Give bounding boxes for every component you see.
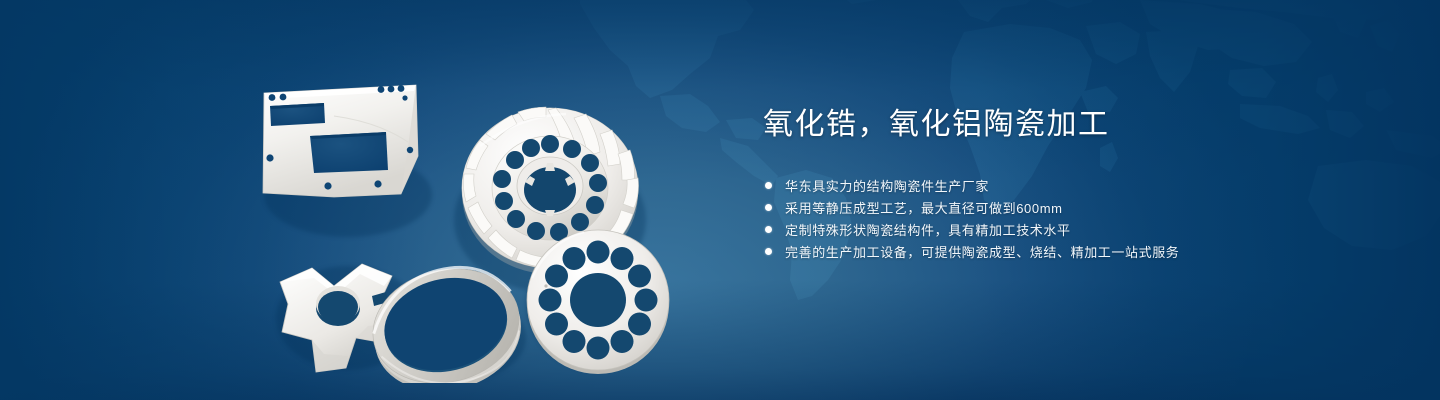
list-item: 定制特殊形状陶瓷结构件，具有精加工技术水平: [765, 218, 1383, 240]
banner-headline: 氧化锆，氧化铝陶瓷加工: [763, 106, 1383, 144]
bullet-dot-icon: [765, 248, 772, 255]
list-item: 采用等静压成型工艺，最大直径可做到600mm: [765, 196, 1383, 218]
bullet-dot-icon: [765, 204, 772, 211]
feature-text: 定制特殊形状陶瓷结构件，具有精加工技术水平: [785, 220, 1071, 239]
list-item: 完善的生产加工设备，可提供陶瓷成型、烧结、精加工一站式服务: [765, 240, 1383, 262]
list-item: 华东具实力的结构陶瓷件生产厂家: [765, 174, 1383, 196]
banner-text-column: 氧化锆，氧化铝陶瓷加工 华东具实力的结构陶瓷件生产厂家 采用等静压成型工艺，最大…: [763, 106, 1383, 262]
feature-text: 完善的生产加工设备，可提供陶瓷成型、烧结、精加工一站式服务: [785, 242, 1179, 261]
bullet-dot-icon: [765, 182, 772, 189]
ceramic-mounting-plate-shape: [263, 85, 418, 197]
feature-text: 采用等静压成型工艺，最大直径可做到600mm: [785, 198, 1063, 217]
bullet-dot-icon: [765, 226, 772, 233]
ceramic-products-photo: [238, 38, 708, 383]
feature-text: 华东具实力的结构陶瓷件生产厂家: [785, 176, 989, 195]
promo-banner: 氧化锆，氧化铝陶瓷加工 华东具实力的结构陶瓷件生产厂家 采用等静压成型工艺，最大…: [0, 0, 1440, 400]
feature-list: 华东具实力的结构陶瓷件生产厂家 采用等静压成型工艺，最大直径可做到600mm 定…: [765, 174, 1383, 262]
ceramic-perforated-disc-shape: [527, 230, 669, 374]
